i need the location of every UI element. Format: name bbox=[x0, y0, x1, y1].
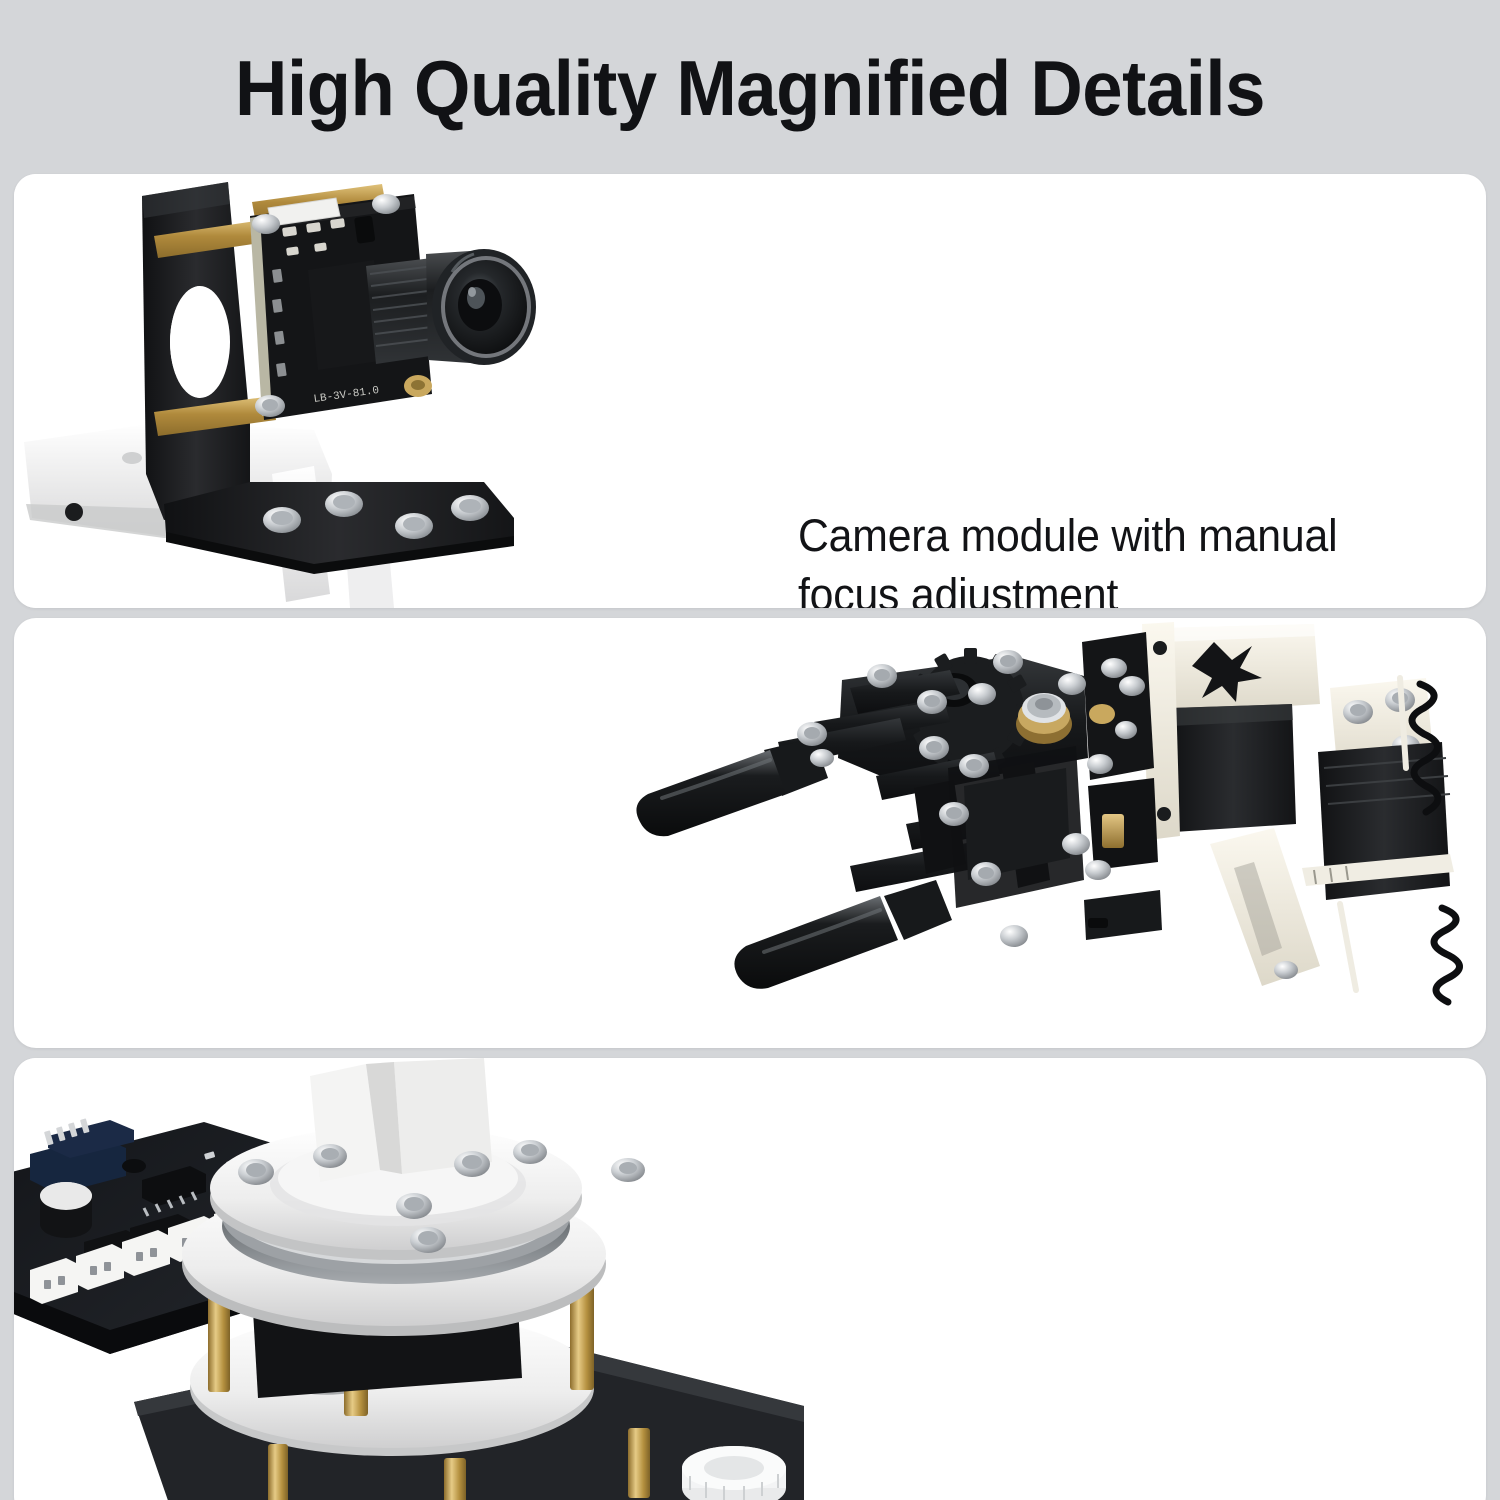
mechanical-claw-photo bbox=[614, 618, 1486, 1048]
acrylic-knob bbox=[682, 1446, 786, 1500]
detail-card-camera-module: LB-3V-81.0 bbox=[14, 174, 1486, 608]
page-title-bar: High Quality Magnified Details bbox=[0, 48, 1500, 130]
camera-module-caption: Camera module with manual focus adjustme… bbox=[798, 506, 1425, 608]
metal-base-photo bbox=[14, 1058, 804, 1500]
product-detail-page: High Quality Magnified Details bbox=[0, 0, 1500, 1500]
detail-card-mechanical-claw: Mechanical claw with anti-slip pad bbox=[14, 618, 1486, 1048]
camera-lens bbox=[308, 249, 536, 370]
detail-card-metal-base: Metal base pan/tilt， Industrial Grade Be… bbox=[14, 1058, 1486, 1500]
camera-module-photo: LB-3V-81.0 bbox=[14, 174, 774, 608]
page-title: High Quality Magnified Details bbox=[53, 48, 1448, 130]
